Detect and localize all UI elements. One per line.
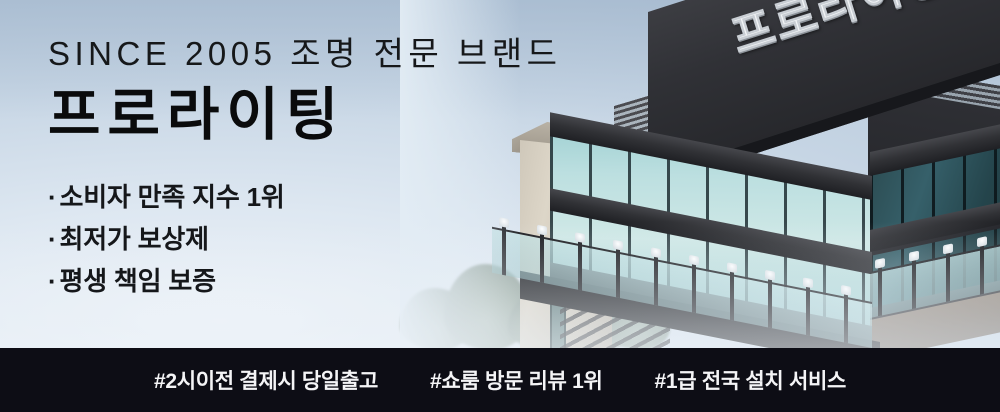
hashtag-nationwide-install: #1급 전국 설치 서비스 [655, 365, 847, 395]
list-item: ·소비자 만족 지수 1위 [48, 176, 608, 218]
bullet-dot-icon: · [48, 266, 56, 296]
bottom-tag-bar: #2시이전 결제시 당일출고 #쇼룸 방문 리뷰 1위 #1급 전국 설치 서비… [0, 348, 1000, 412]
bullet-label: 소비자 만족 지수 1위 [59, 182, 284, 212]
bullet-label: 최저가 보상제 [59, 224, 208, 254]
bullet-dot-icon: · [48, 224, 56, 254]
promo-banner: 프로라이팅 [0, 0, 1000, 412]
headline-block: SINCE 2005 조명 전문 브랜드 프로라이팅 ·소비자 만족 지수 1위… [48, 36, 608, 302]
brand-title: 프로라이팅 [48, 86, 608, 146]
hashtag-same-day-shipping: #2시이전 결제시 당일출고 [154, 365, 378, 395]
feature-bullet-list: ·소비자 만족 지수 1위 ·최저가 보상제 ·평생 책임 보증 [48, 176, 608, 302]
list-item: ·최저가 보상제 [48, 218, 608, 260]
bullet-dot-icon: · [48, 182, 56, 212]
eyebrow-text: SINCE 2005 조명 전문 브랜드 [48, 36, 608, 72]
bullet-label: 평생 책임 보증 [59, 266, 215, 296]
list-item: ·평생 책임 보증 [48, 260, 608, 302]
hashtag-showroom-review: #쇼룸 방문 리뷰 1위 [430, 365, 603, 395]
